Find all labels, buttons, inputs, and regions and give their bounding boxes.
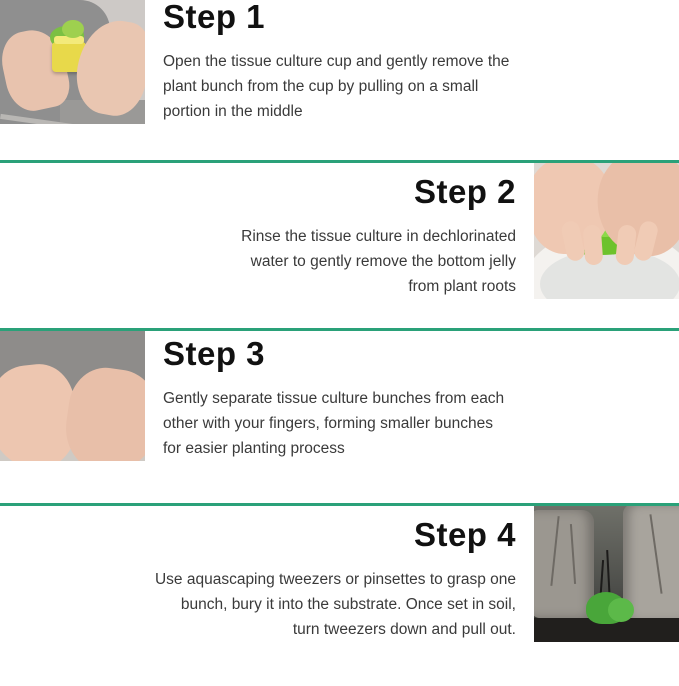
step-1-photo <box>0 0 145 124</box>
step-3-text: Step 3 Gently separate tissue culture bu… <box>145 331 679 461</box>
step-1-title: Step 1 <box>163 0 661 35</box>
step-3-line-3: for easier planting process <box>163 436 661 461</box>
step-2-photo <box>534 163 679 299</box>
step-section-4: Step 4 Use aquascaping tweezers or pinse… <box>0 506 679 686</box>
step-2-line-2: water to gently remove the bottom jelly <box>18 249 516 274</box>
step-1-line-1: Open the tissue culture cup and gently r… <box>163 49 661 74</box>
step-1-line-3: portion in the middle <box>163 99 661 124</box>
step-3-photo <box>0 331 145 461</box>
step-section-1: Step 1 Open the tissue culture cup and g… <box>0 0 679 160</box>
step-4-line-3: turn tweezers down and pull out. <box>18 617 516 642</box>
step-section-3: Step 3 Gently separate tissue culture bu… <box>0 331 679 503</box>
step-4-photo <box>534 506 679 642</box>
step-2-line-3: from plant roots <box>18 274 516 299</box>
instruction-sheet: Step 1 Open the tissue culture cup and g… <box>0 0 679 683</box>
step-section-2: Step 2 Rinse the tissue culture in dechl… <box>0 163 679 328</box>
step-1-line-2: plant bunch from the cup by pulling on a… <box>163 74 661 99</box>
step-4-title: Step 4 <box>18 518 516 553</box>
step-4-line-1: Use aquascaping tweezers or pinsettes to… <box>18 567 516 592</box>
step-2-line-1: Rinse the tissue culture in dechlorinate… <box>18 224 516 249</box>
step-3-line-2: other with your fingers, forming smaller… <box>163 411 661 436</box>
step-3-title: Step 3 <box>163 337 661 372</box>
step-1-text: Step 1 Open the tissue culture cup and g… <box>145 0 679 124</box>
step-3-line-1: Gently separate tissue culture bunches f… <box>163 386 661 411</box>
step-2-text: Step 2 Rinse the tissue culture in dechl… <box>0 163 534 299</box>
step-2-title: Step 2 <box>18 175 516 210</box>
step-4-text: Step 4 Use aquascaping tweezers or pinse… <box>0 506 534 642</box>
step-4-line-2: bunch, bury it into the substrate. Once … <box>18 592 516 617</box>
